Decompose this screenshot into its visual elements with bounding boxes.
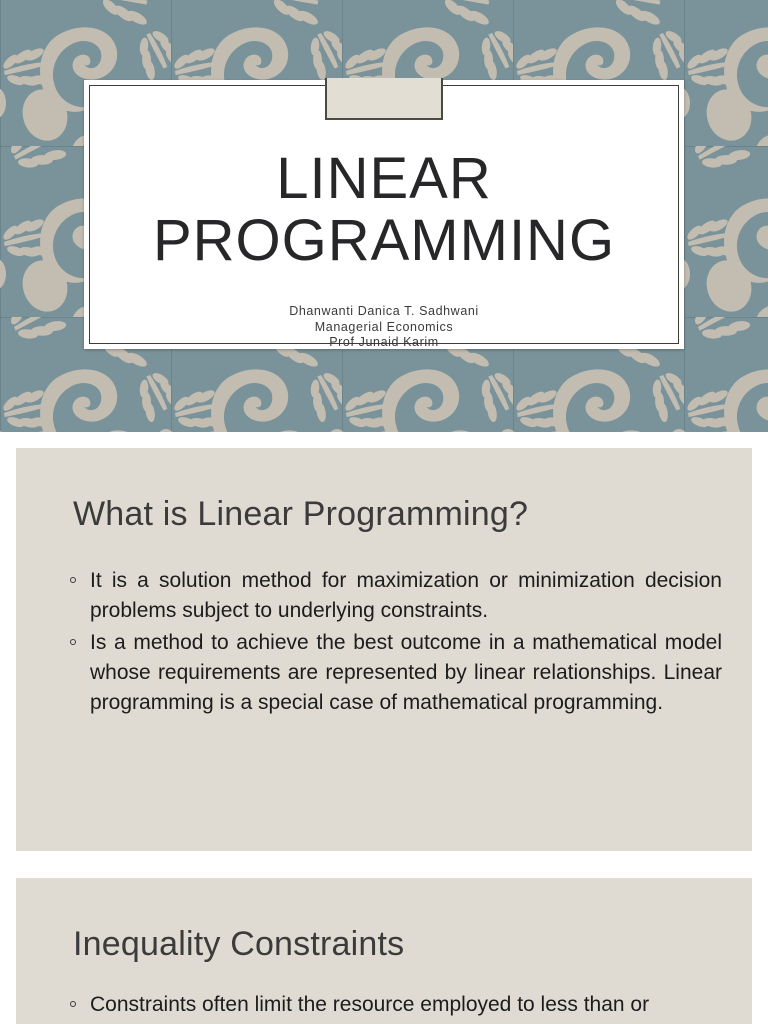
slide3-bullet-list: Constraints often limit the resource emp…	[68, 990, 722, 1022]
slide-inequality-constraints: Inequality Constraints Constraints often…	[16, 878, 752, 1024]
course-name: Managerial Economics	[90, 320, 678, 336]
list-item: Constraints often limit the resource emp…	[68, 990, 722, 1020]
list-item-text: Constraints often limit the resource emp…	[90, 993, 649, 1016]
page-title: LINEAR PROGRAMMING	[90, 148, 678, 272]
title-card-border: LINEAR PROGRAMMING Dhanwanti Danica T. S…	[89, 85, 679, 344]
bullet-circle-icon	[70, 1001, 76, 1007]
list-item-text: It is a solution method for maximization…	[90, 569, 722, 622]
slide-what-is-linear-programming: What is Linear Programming? It is a solu…	[16, 448, 752, 851]
list-item: It is a solution method for maximization…	[68, 566, 722, 626]
title-subtitle: Dhanwanti Danica T. Sadhwani Managerial …	[90, 304, 678, 351]
author-name: Dhanwanti Danica T. Sadhwani	[90, 304, 678, 320]
list-item: Is a method to achieve the best outcome …	[68, 628, 722, 718]
slide3-heading: Inequality Constraints	[73, 924, 404, 964]
title-line-1: LINEAR	[90, 148, 678, 210]
title-card: LINEAR PROGRAMMING Dhanwanti Danica T. S…	[84, 80, 684, 349]
slide2-heading: What is Linear Programming?	[73, 494, 528, 534]
bullet-circle-icon	[70, 639, 76, 645]
title-card-tab	[325, 78, 443, 120]
slide2-bullet-list: It is a solution method for maximization…	[68, 566, 722, 720]
bullet-circle-icon	[70, 577, 76, 583]
instructor-name: Prof Junaid Karim	[90, 335, 678, 351]
title-line-2: PROGRAMMING	[90, 210, 678, 272]
list-item-text: Is a method to achieve the best outcome …	[90, 631, 722, 714]
title-slide: LINEAR PROGRAMMING Dhanwanti Danica T. S…	[0, 0, 768, 432]
